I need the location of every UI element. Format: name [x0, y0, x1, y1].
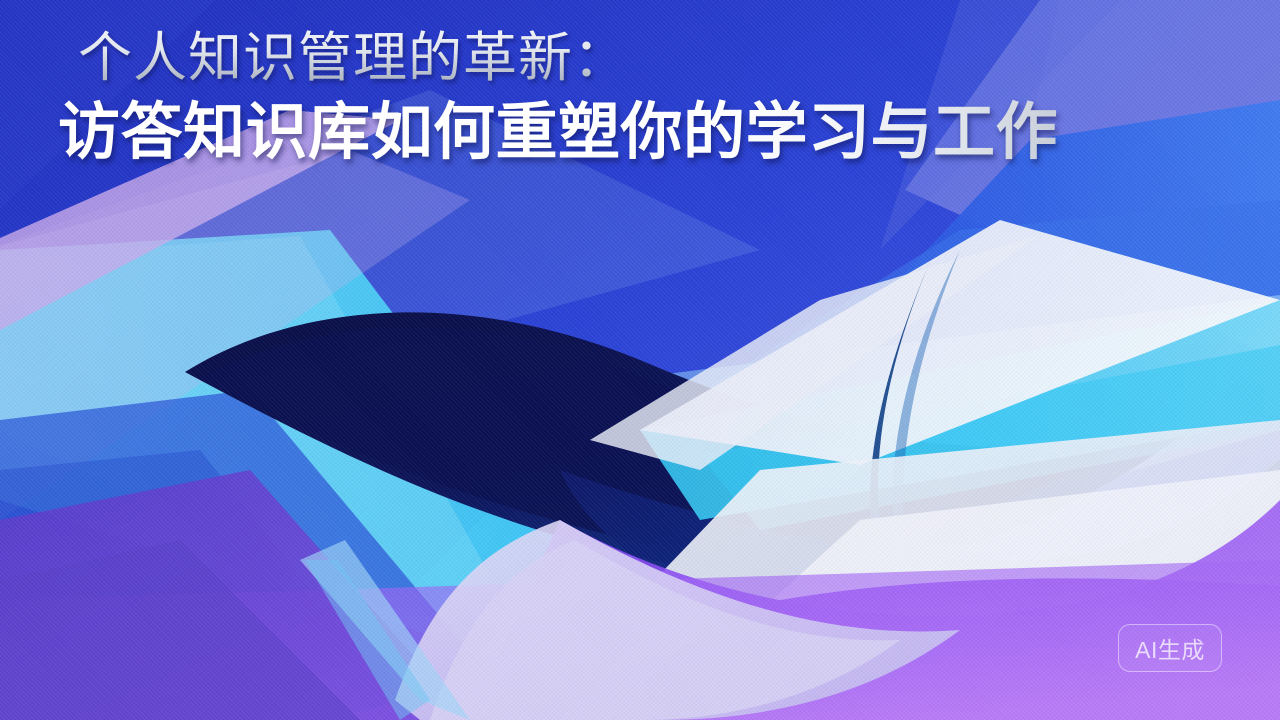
slide-canvas: 个人知识管理的革新： 访答知识库如何重塑你的学习与工作 AI生成: [0, 0, 1280, 720]
ai-generated-badge: AI生成: [1118, 624, 1222, 672]
abstract-wave-background: [0, 0, 1280, 720]
